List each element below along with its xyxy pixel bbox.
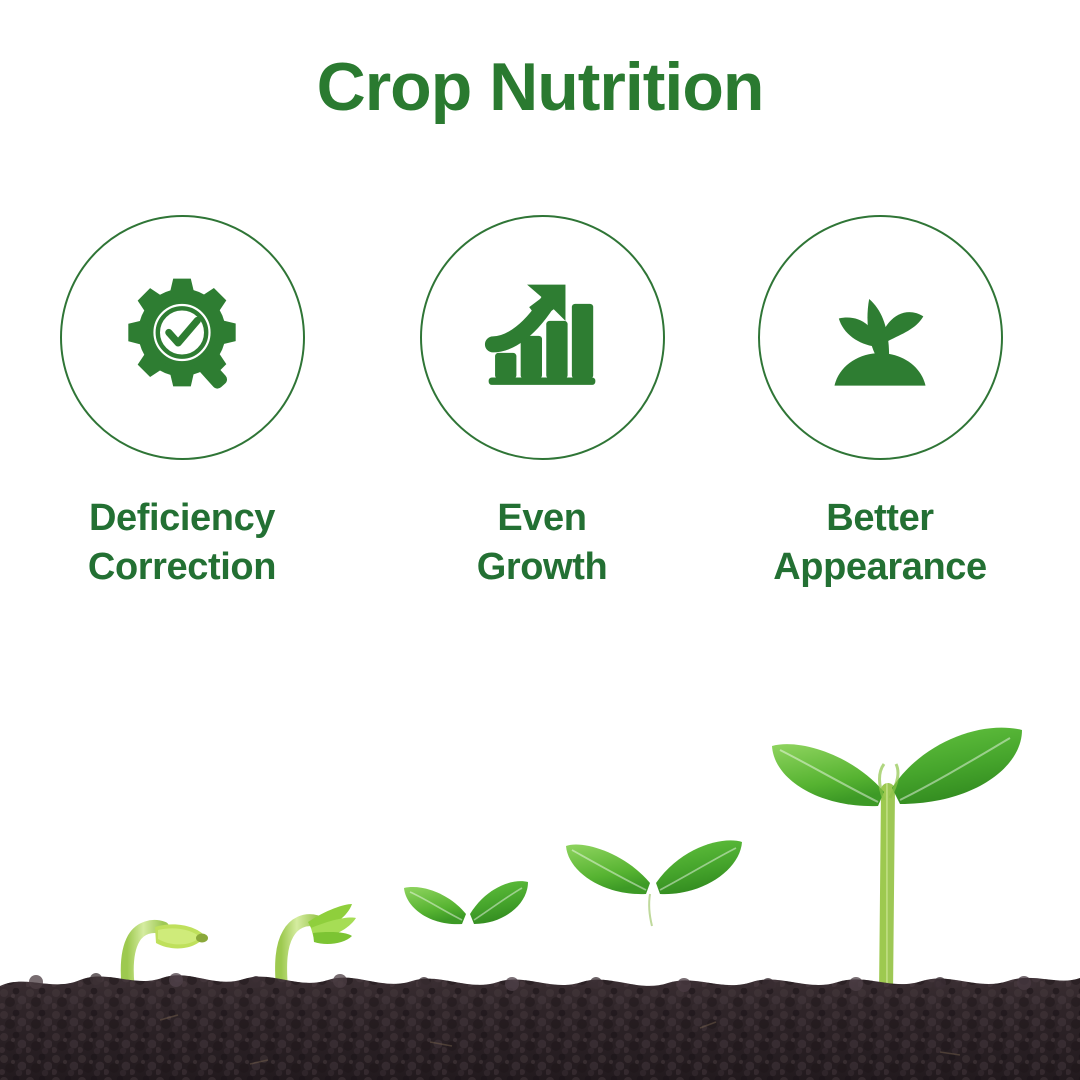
feature-icon-circle-3[interactable] bbox=[758, 215, 1003, 460]
soil-bed bbox=[0, 973, 1080, 1080]
page-title: Crop Nutrition bbox=[0, 52, 1080, 123]
seedling-illustration bbox=[0, 680, 1080, 1080]
gear-magnifier-check-icon bbox=[116, 272, 248, 404]
feature-label-2: Even Growth bbox=[402, 494, 682, 591]
feature-even-growth[interactable]: Even Growth bbox=[402, 215, 682, 591]
seedling-sprout-soil-icon bbox=[815, 273, 945, 403]
seedling-stage-1 bbox=[127, 924, 208, 985]
feature-deficiency-correction[interactable]: Deficiency Correction bbox=[42, 215, 322, 591]
feature-better-appearance[interactable]: Better Appearance bbox=[740, 215, 1020, 591]
seedling-stage-5 bbox=[772, 728, 1022, 996]
feature-label-1: Deficiency Correction bbox=[42, 494, 322, 591]
seedling-stage-3 bbox=[404, 881, 528, 990]
poster-canvas: Crop Nutrition bbox=[0, 0, 1080, 1080]
feature-label-3: Better Appearance bbox=[740, 494, 1020, 591]
seedling-stage-2 bbox=[281, 904, 356, 988]
seedling-stage-4 bbox=[566, 840, 742, 992]
feature-row: Deficiency Correction bbox=[0, 215, 1080, 635]
feature-icon-circle-2[interactable] bbox=[420, 215, 665, 460]
seedling-growth-photo bbox=[0, 680, 1080, 1080]
growth-bar-chart-arrow-icon bbox=[478, 274, 606, 402]
feature-icon-circle-1[interactable] bbox=[60, 215, 305, 460]
